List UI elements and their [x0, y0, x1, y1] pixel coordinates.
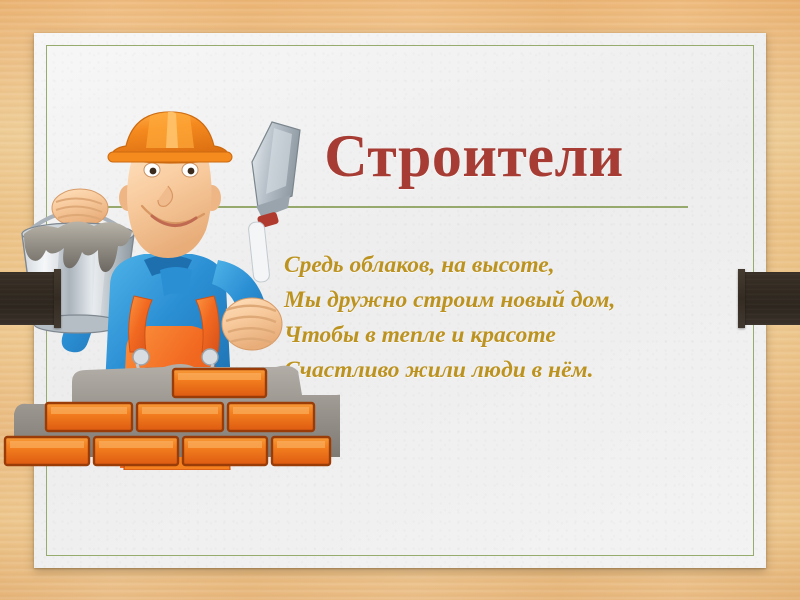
poem-line-1: Средь облаков, на высоте, — [284, 248, 714, 283]
brick-wall-illustration — [0, 355, 340, 475]
brick-row-bottom — [5, 437, 330, 465]
brick-row-top — [173, 369, 266, 397]
ribbon-band-right — [741, 272, 800, 325]
ribbon-band-left — [0, 272, 58, 325]
page-title: Строители — [258, 126, 690, 187]
title-divider-rule — [60, 206, 688, 208]
slide-canvas: Строители Средь облаков, на высоте, Мы д… — [0, 0, 800, 600]
brick-row-middle — [46, 403, 314, 431]
poem-line-3: Чтобы в тепле и красоте — [284, 318, 714, 353]
ribbon-cap-right — [738, 269, 745, 328]
poem-line-4: Счастливо жили люди в нём. — [284, 353, 714, 388]
ribbon-cap-left — [54, 269, 61, 328]
poem-text-block: Средь облаков, на высоте, Мы дружно стро… — [284, 248, 714, 388]
poem-line-2: Мы дружно строим новый дом, — [284, 283, 714, 318]
